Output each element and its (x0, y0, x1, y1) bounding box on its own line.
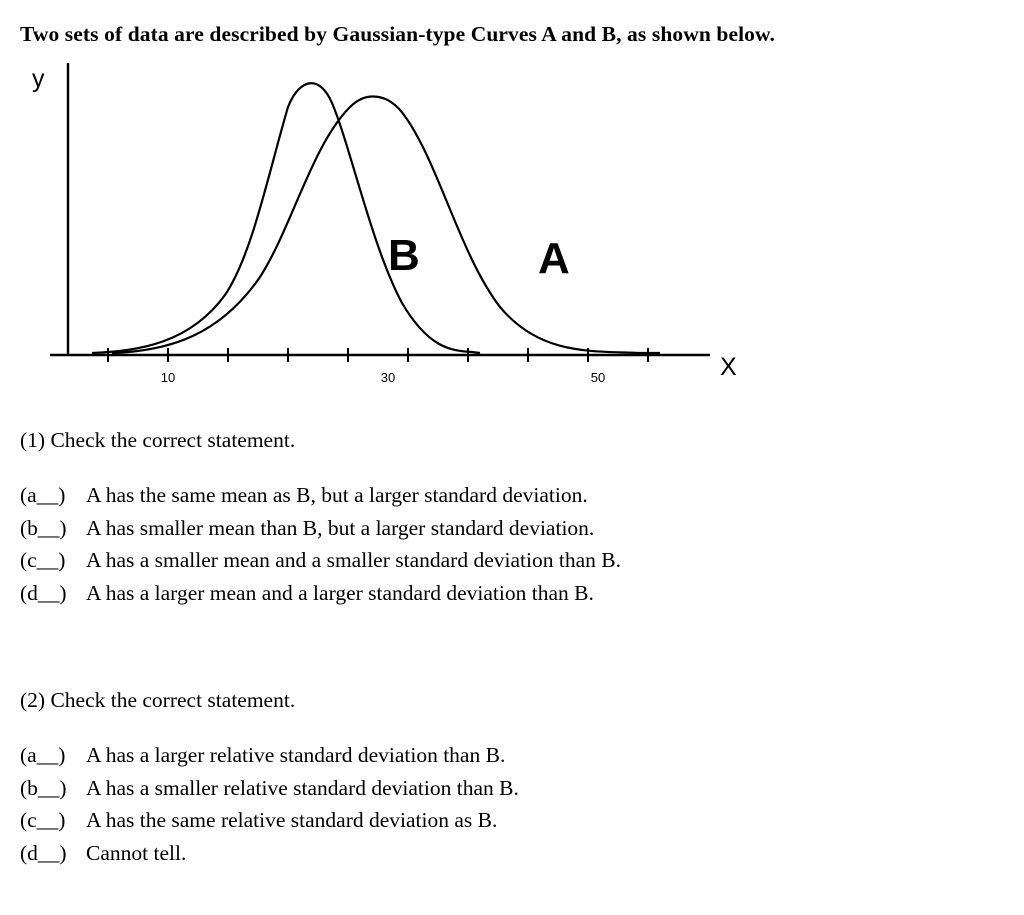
question-2-option-a-label: A has a larger relative standard deviati… (86, 739, 505, 772)
question-1-option-c[interactable]: (c__) A has a smaller mean and a smaller… (20, 544, 621, 577)
y-axis-label: y (32, 65, 45, 93)
x-tick-label-50: 50 (591, 370, 605, 385)
question-1-option-b-label: A has smaller mean than B, but a larger … (86, 512, 594, 545)
figure-svg: 10 30 50 y X B A (20, 55, 780, 405)
question-2: (2) Check the correct statement. (a__) A… (20, 688, 519, 870)
question-1-prompt: (1) Check the correct statement. (20, 428, 621, 453)
question-2-prompt: (2) Check the correct statement. (20, 688, 519, 713)
question-1-option-a[interactable]: (a__) A has the same mean as B, but a la… (20, 479, 621, 512)
question-2-option-a[interactable]: (a__) A has a larger relative standard d… (20, 739, 519, 772)
question-2-option-d-checkbox[interactable]: (d__) (20, 837, 86, 870)
page-title: Two sets of data are described by Gaussi… (20, 22, 775, 47)
question-2-option-b[interactable]: (b__) A has a smaller relative standard … (20, 772, 519, 805)
curve-label-b: B (388, 231, 420, 280)
question-2-option-b-label: A has a smaller relative standard deviat… (86, 772, 519, 805)
curve-b-path (92, 83, 480, 353)
question-2-option-d-label: Cannot tell. (86, 837, 186, 870)
question-1-option-b-checkbox[interactable]: (b__) (20, 512, 86, 545)
question-2-option-d[interactable]: (d__) Cannot tell. (20, 837, 519, 870)
question-1-option-a-checkbox[interactable]: (a__) (20, 479, 86, 512)
x-tick-label-10: 10 (161, 370, 175, 385)
question-1-option-a-label: A has the same mean as B, but a larger s… (86, 479, 588, 512)
question-1-option-c-label: A has a smaller mean and a smaller stand… (86, 544, 621, 577)
question-1-option-b[interactable]: (b__) A has smaller mean than B, but a l… (20, 512, 621, 545)
question-2-option-a-checkbox[interactable]: (a__) (20, 739, 86, 772)
question-2-option-c-label: A has the same relative standard deviati… (86, 804, 497, 837)
question-1-option-d-checkbox[interactable]: (d__) (20, 577, 86, 610)
question-1-option-d[interactable]: (d__) A has a larger mean and a larger s… (20, 577, 621, 610)
x-axis-label: X (720, 353, 737, 381)
question-1: (1) Check the correct statement. (a__) A… (20, 428, 621, 610)
question-1-option-c-checkbox[interactable]: (c__) (20, 544, 86, 577)
worksheet-page: Two sets of data are described by Gaussi… (0, 0, 1024, 915)
question-2-option-c-checkbox[interactable]: (c__) (20, 804, 86, 837)
curve-label-a: A (538, 234, 570, 283)
curve-a-path (112, 97, 660, 353)
question-1-option-d-label: A has a larger mean and a larger standar… (86, 577, 594, 610)
gaussian-curves-figure: 10 30 50 y X B A (20, 55, 780, 405)
question-2-option-b-checkbox[interactable]: (b__) (20, 772, 86, 805)
question-2-option-c[interactable]: (c__) A has the same relative standard d… (20, 804, 519, 837)
x-tick-label-30: 30 (381, 370, 395, 385)
